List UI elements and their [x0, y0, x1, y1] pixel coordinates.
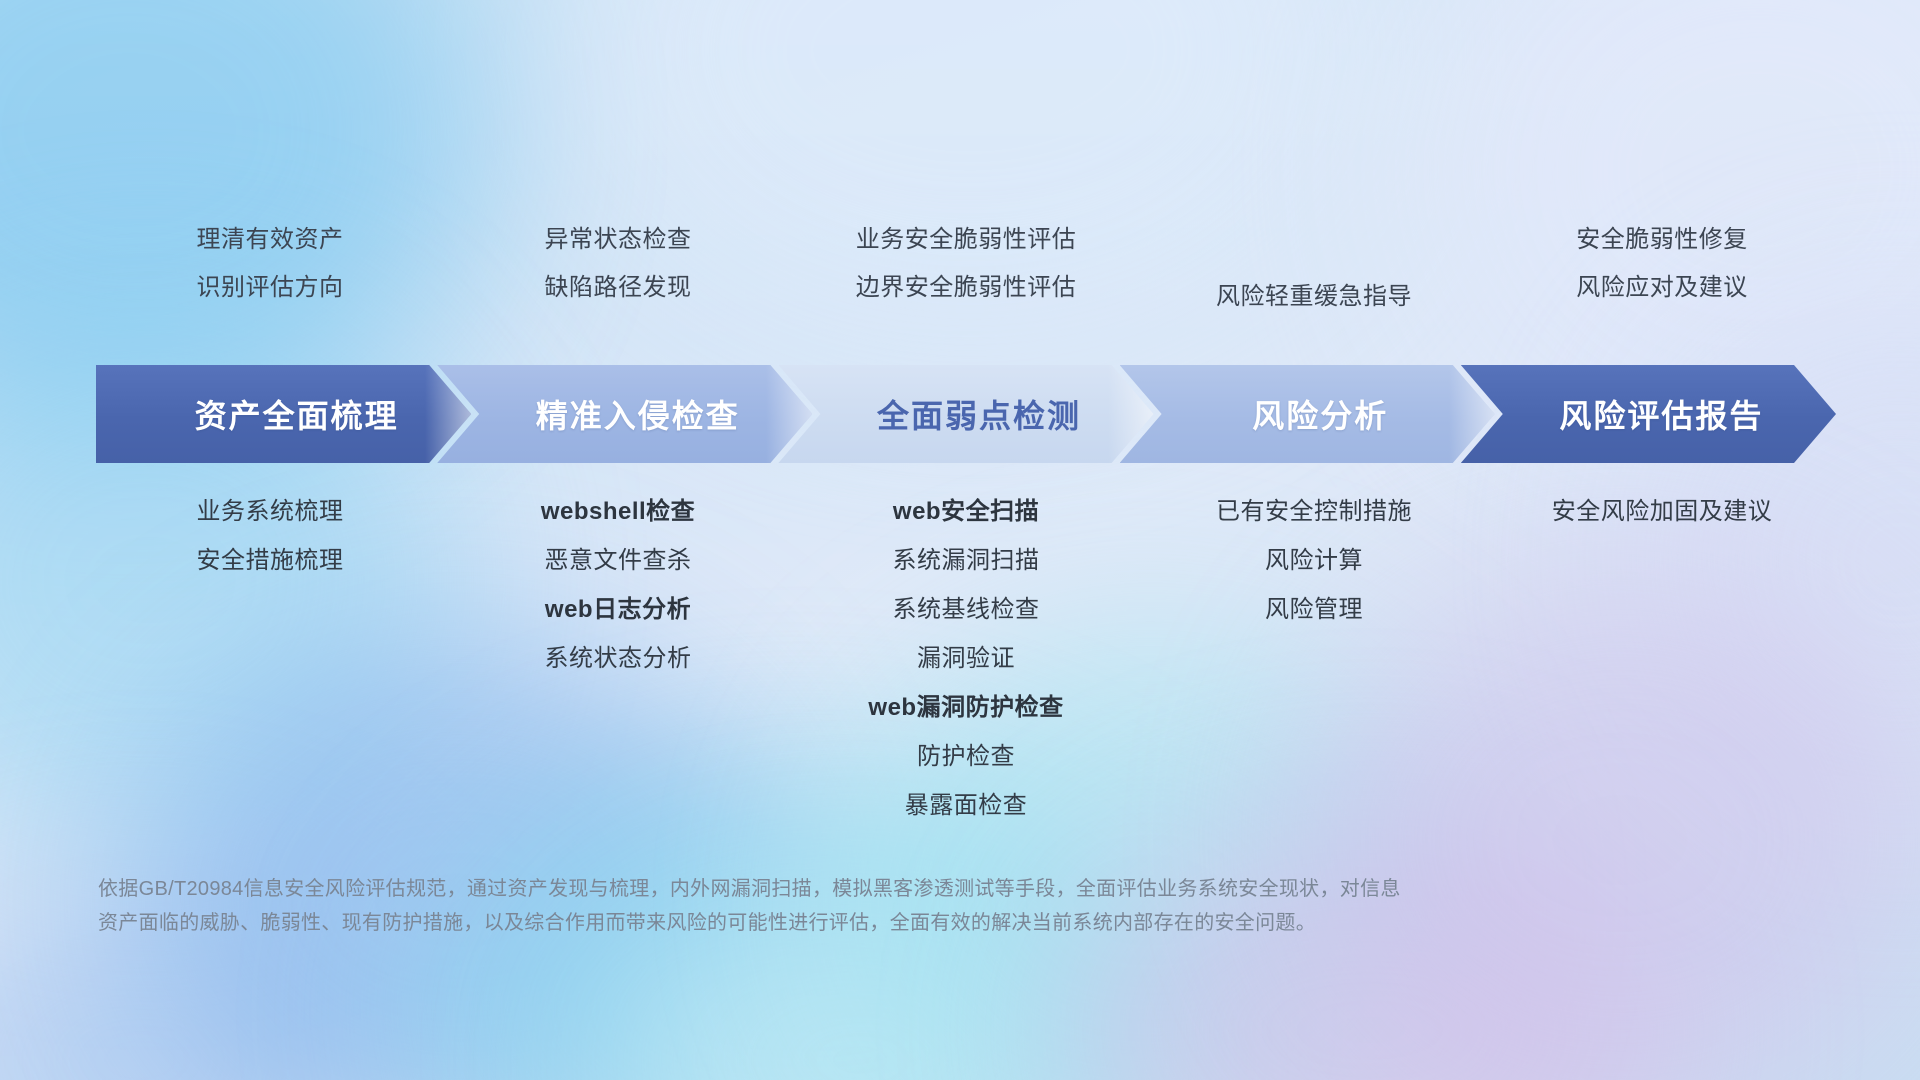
stage-chevron-band: 资产全面梳理 精准入侵检查 全面弱点检测 风险分析 风险评估报告 — [96, 365, 1836, 463]
stage-details-4: 已有安全控制措施 风险计算 风险管理 — [1140, 500, 1488, 647]
top-note: 安全脆弱性修复 — [1576, 228, 1748, 252]
detail-item: 漏洞验证 — [917, 647, 1015, 671]
detail-item: 暴露面检查 — [905, 794, 1028, 818]
top-notes-stage-4: 风险轻重缓急指导 — [1140, 228, 1488, 338]
top-note: 边界安全脆弱性评估 — [856, 276, 1077, 300]
stage-chevron-1[interactable]: 资产全面梳理 — [96, 365, 471, 463]
stage-chevron-3[interactable]: 全面弱点检测 — [778, 365, 1153, 463]
detail-item: webshell检查 — [541, 500, 695, 524]
stage-details-5: 安全风险加固及建议 — [1488, 500, 1836, 549]
stage-details-1: 业务系统梳理 安全措施梳理 — [96, 500, 444, 598]
detail-item: 风险计算 — [1265, 549, 1363, 573]
process-flow-diagram: 理清有效资产 识别评估方向 异常状态检查 缺陷路径发现 业务安全脆弱性评估 边界… — [0, 0, 1920, 1080]
stage-label: 精准入侵检查 — [510, 391, 740, 437]
detail-item: 恶意文件查杀 — [545, 549, 692, 573]
top-note: 风险轻重缓急指导 — [1216, 285, 1412, 309]
detail-item: 安全措施梳理 — [197, 549, 344, 573]
stage-details-2: webshell检查 恶意文件查杀 web日志分析 系统状态分析 — [444, 500, 792, 696]
top-notes-stage-2: 异常状态检查 缺陷路径发现 — [444, 228, 792, 338]
top-note: 业务安全脆弱性评估 — [856, 228, 1077, 252]
top-notes-row: 理清有效资产 识别评估方向 异常状态检查 缺陷路径发现 业务安全脆弱性评估 边界… — [96, 228, 1836, 338]
footer-line-2: 资产面临的威胁、脆弱性、现有防护措施，以及综合作用而带来风险的可能性进行评估，全… — [98, 906, 1758, 940]
stage-label: 风险评估报告 — [1533, 391, 1763, 437]
stage-label: 风险分析 — [1226, 391, 1388, 437]
stage-chevron-4[interactable]: 风险分析 — [1120, 365, 1495, 463]
stage-chevron-5[interactable]: 风险评估报告 — [1461, 365, 1836, 463]
detail-item: 防护检查 — [917, 745, 1015, 769]
stage-details-row: 业务系统梳理 安全措施梳理 webshell检查 恶意文件查杀 web日志分析 … — [96, 500, 1836, 843]
top-note: 缺陷路径发现 — [545, 276, 692, 300]
detail-item: web安全扫描 — [893, 500, 1039, 524]
stage-label: 全面弱点检测 — [851, 391, 1081, 437]
stage-chevron-2[interactable]: 精准入侵检查 — [437, 365, 812, 463]
top-note: 风险应对及建议 — [1576, 276, 1748, 300]
top-notes-stage-1: 理清有效资产 识别评估方向 — [96, 228, 444, 338]
stage-label: 资产全面梳理 — [169, 391, 399, 437]
footer-description: 依据GB/T20984信息安全风险评估规范，通过资产发现与梳理，内外网漏洞扫描，… — [98, 872, 1758, 940]
detail-item: web漏洞防护检查 — [868, 696, 1063, 720]
top-note: 异常状态检查 — [545, 228, 692, 252]
detail-item: 系统状态分析 — [545, 647, 692, 671]
top-note: 识别评估方向 — [197, 276, 344, 300]
detail-item: 风险管理 — [1265, 598, 1363, 622]
detail-item: 系统基线检查 — [893, 598, 1040, 622]
top-notes-stage-5: 安全脆弱性修复 风险应对及建议 — [1488, 228, 1836, 338]
top-note: 理清有效资产 — [197, 228, 344, 252]
detail-item: web日志分析 — [545, 598, 691, 622]
top-notes-stage-3: 业务安全脆弱性评估 边界安全脆弱性评估 — [792, 228, 1140, 338]
detail-item: 已有安全控制措施 — [1216, 500, 1412, 524]
footer-line-1: 依据GB/T20984信息安全风险评估规范，通过资产发现与梳理，内外网漏洞扫描，… — [98, 872, 1758, 906]
detail-item: 安全风险加固及建议 — [1552, 500, 1773, 524]
detail-item: 业务系统梳理 — [197, 500, 344, 524]
stage-details-3: web安全扫描 系统漏洞扫描 系统基线检查 漏洞验证 web漏洞防护检查 防护检… — [792, 500, 1140, 843]
detail-item: 系统漏洞扫描 — [893, 549, 1040, 573]
